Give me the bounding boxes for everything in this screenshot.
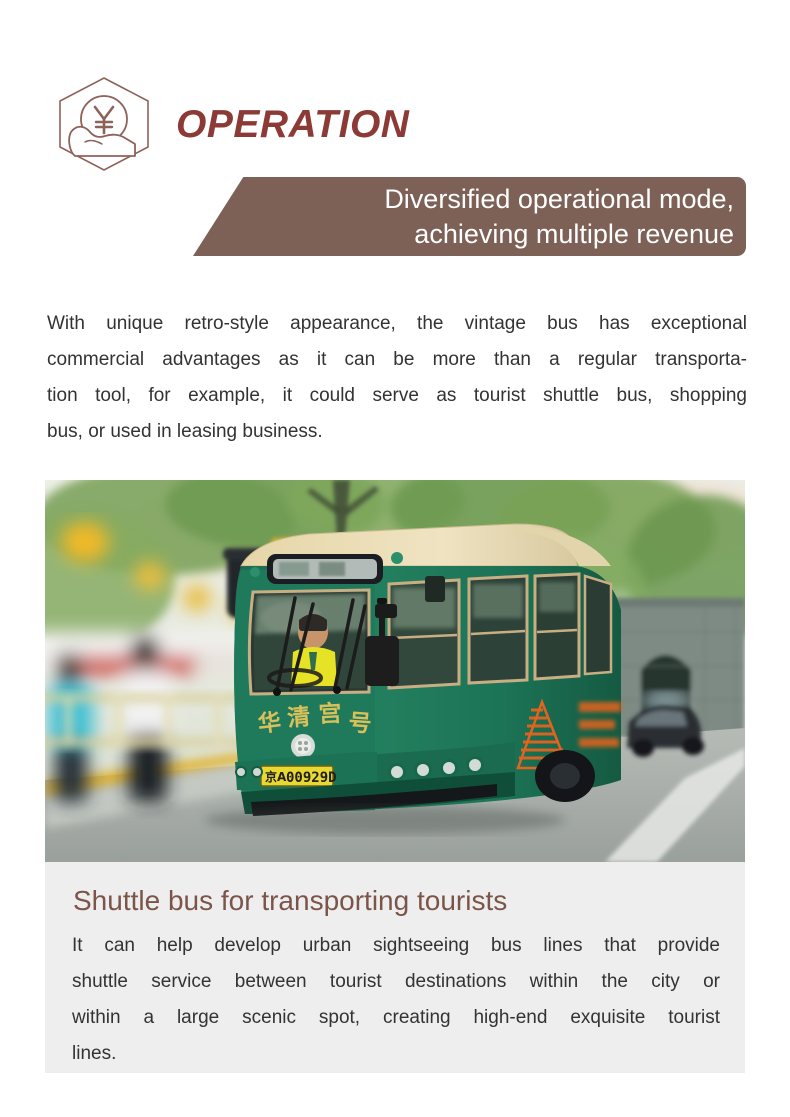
intro-line-2: commercial advantages as it can be more … [47,342,747,378]
page-header: OPERATION Diversified operational mode, … [0,0,790,270]
caption-line-3: within a large scenic spot, creating hig… [72,1000,720,1036]
svg-text:华: 华 [256,708,282,738]
hand-holding-yen-coin-hexagon-icon [57,76,151,172]
intro-paragraph: With unique retro-style appearance, the … [47,306,747,450]
caption-line-4: lines. [72,1036,720,1072]
caption-title: Shuttle bus for transporting tourists [73,883,507,919]
caption-line-1: It can help develop urban sightseeing bu… [72,928,720,964]
intro-line-4: bus, or used in leasing business. [47,414,747,450]
operation-page: OPERATION Diversified operational mode, … [0,0,790,1117]
svg-text:宫: 宫 [318,700,342,728]
caption-block: Shuttle bus for transporting tourists It… [45,862,745,1073]
svg-text:00929D: 00929D [286,770,337,786]
intro-line-1: With unique retro-style appearance, the … [47,306,747,342]
svg-text:号: 号 [348,710,373,738]
banner-text: Diversified operational mode, achieving … [234,182,734,252]
svg-text:京A: 京A [265,769,287,784]
caption-body: It can help develop urban sightseeing bu… [72,928,720,1072]
page-title: OPERATION [176,100,409,150]
subtitle-banner: Diversified operational mode, achieving … [193,177,746,256]
svg-text:清: 清 [286,704,311,732]
intro-line-3: tion tool, for example, it could serve a… [47,378,747,414]
banner-line-2: achieving multiple revenue [234,217,734,252]
caption-line-2: shuttle service between tourist destinat… [72,964,720,1000]
banner-line-1: Diversified operational mode, [234,182,734,217]
vintage-bus-photo: 华 清 宫 号 [45,480,745,862]
